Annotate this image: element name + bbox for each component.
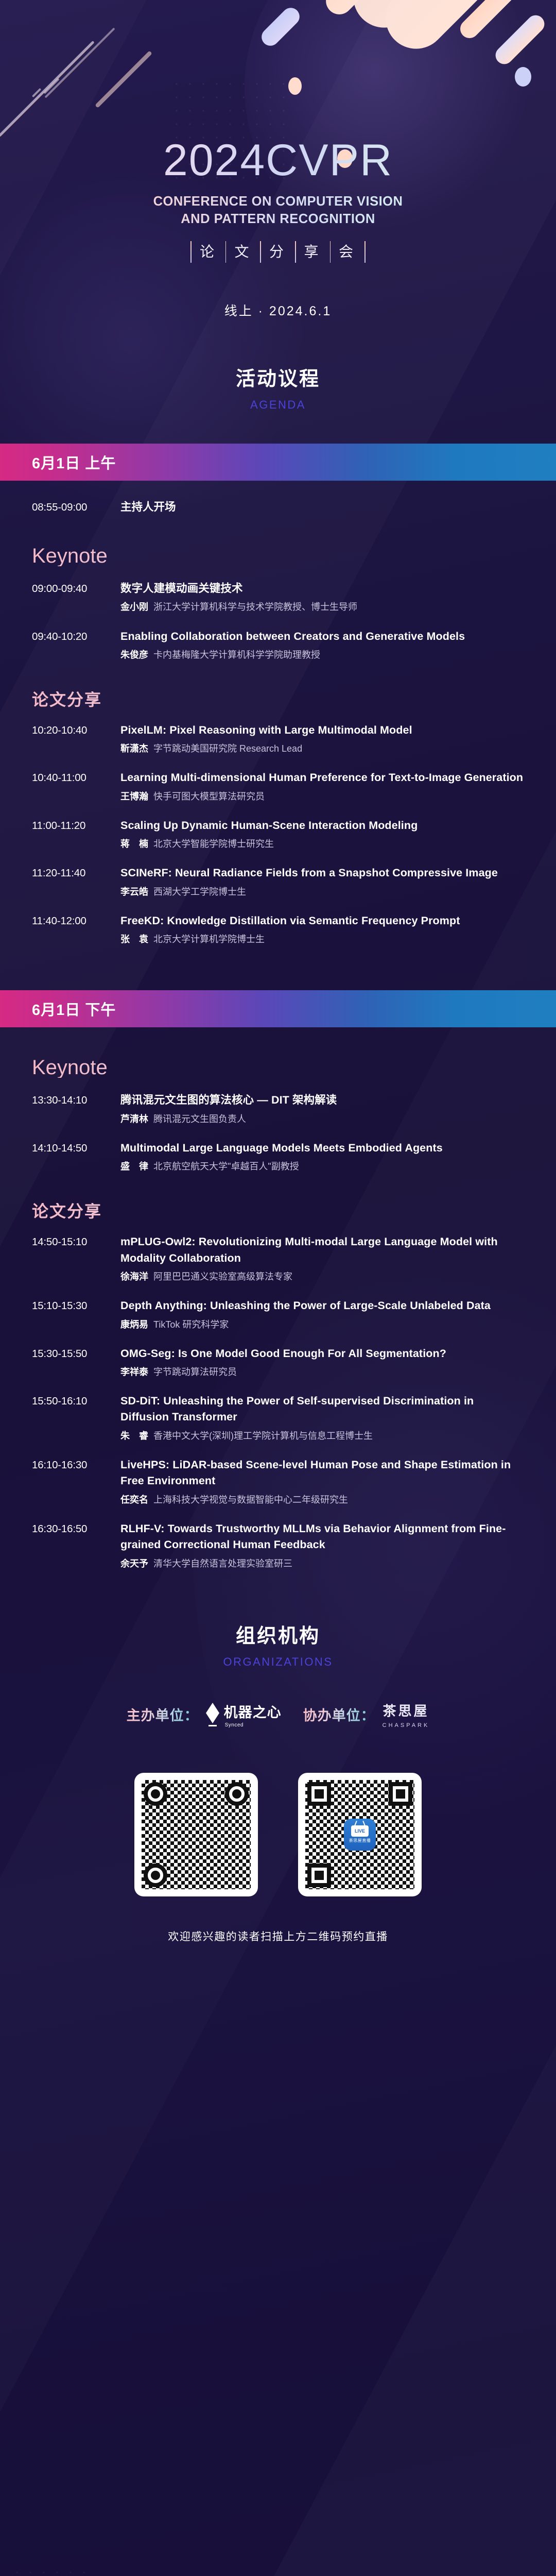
session-row[interactable]: 14:10-14:50 Multimodal Large Language Mo… bbox=[32, 1140, 524, 1173]
host-label: 主办单位： bbox=[127, 1704, 199, 1724]
qr-finder-icon bbox=[144, 1782, 167, 1806]
session-row[interactable]: 10:20-10:40 PixelLM: Pixel Reasoning wit… bbox=[32, 722, 524, 755]
session-speaker: 李云皓西湖大学工学院博士生 bbox=[120, 885, 524, 899]
session-time: 15:30-15:50 bbox=[32, 1346, 120, 1362]
speaker-name: 张 袁 bbox=[120, 934, 148, 944]
session-time: 10:20-10:40 bbox=[32, 722, 120, 739]
session-title: 主持人开场 bbox=[120, 498, 176, 514]
session-row[interactable]: 13:30-14:10 腾讯混元文生图的算法核心 — DIT 架构解读 芦清林腾… bbox=[32, 1092, 524, 1125]
venue-date: 线上 · 2024.6.1 bbox=[0, 301, 556, 319]
speaker-affiliation: 字节跳动算法研究员 bbox=[153, 1367, 237, 1377]
qr-finder-icon bbox=[389, 1782, 412, 1806]
agenda-morning: 08:55-09:00 主持人开场 Keynote 09:00-09:40 数字… bbox=[0, 498, 556, 946]
session-row[interactable]: 16:10-16:30 LiveHPS: LiDAR-based Scene-l… bbox=[32, 1457, 524, 1506]
chaspark-logo-cn: 茶思屋 bbox=[383, 1701, 429, 1720]
speaker-name: 靳潇杰 bbox=[120, 743, 148, 754]
session-row[interactable]: 11:00-11:20 Scaling Up Dynamic Human-Sce… bbox=[32, 818, 524, 851]
session-title: SD-DiT: Unleashing the Power of Self-sup… bbox=[120, 1393, 524, 1426]
day-banner-label: 6月1日 下午 bbox=[32, 998, 116, 1020]
chaspark-logo-en: CHASPARK bbox=[383, 1722, 430, 1728]
session-speaker: 王博瀚快手可图大模型算法研究员 bbox=[120, 790, 524, 803]
hourglass-icon bbox=[206, 1703, 219, 1726]
session-speaker: 余天予清华大学自然语言处理实验室研三 bbox=[120, 1557, 524, 1570]
session-time: 16:30-16:50 bbox=[32, 1521, 120, 1537]
session-title: OMG-Seg: Is One Model Good Enough For Al… bbox=[120, 1346, 524, 1362]
speaker-name: 王博瀚 bbox=[120, 791, 148, 802]
chaspark-logo: 茶思屋 CHASPARK bbox=[383, 1701, 430, 1728]
session-title: Multimodal Large Language Models Meets E… bbox=[120, 1140, 524, 1156]
agenda-title-en: AGENDA bbox=[0, 398, 556, 412]
session-time: 09:00-09:40 bbox=[32, 581, 120, 597]
session-row[interactable]: 11:40-12:00 FreeKD: Knowledge Distillati… bbox=[32, 913, 524, 946]
session-title: mPLUG-Owl2: Revolutionizing Multi-modal … bbox=[120, 1234, 524, 1266]
session-time: 10:40-11:00 bbox=[32, 770, 120, 786]
session-speaker: 蒋 楠北京大学智能学院博士研究生 bbox=[120, 837, 524, 851]
speaker-affiliation: 清华大学自然语言处理实验室研三 bbox=[153, 1558, 292, 1569]
session-row[interactable]: 16:30-16:50 RLHF-V: Towards Trustworthy … bbox=[32, 1521, 524, 1570]
synced-logo: 机器之心 Synced bbox=[206, 1701, 282, 1728]
session-row[interactable]: 09:40-10:20 Enabling Collaboration betwe… bbox=[32, 629, 524, 662]
speaker-name: 任奕名 bbox=[120, 1495, 148, 1505]
session-opening[interactable]: 08:55-09:00 主持人开场 bbox=[32, 498, 524, 516]
agenda-title-cn: 活动议程 bbox=[0, 363, 556, 391]
synced-logo-en: Synced bbox=[225, 1722, 282, 1728]
tv-icon: LIVE bbox=[351, 1825, 369, 1837]
agenda-afternoon: Keynote 13:30-14:10 腾讯混元文生图的算法核心 — DIT 架… bbox=[0, 1057, 556, 1570]
session-row[interactable]: 15:50-16:10 SD-DiT: Unleashing the Power… bbox=[32, 1393, 524, 1443]
session-speaker: 朱俊彦卡内基梅隆大学计算机科学学院助理教授 bbox=[120, 648, 524, 662]
speaker-affiliation: 上海科技大学视觉与数据智能中心二年级研究生 bbox=[153, 1495, 348, 1505]
host-block: 主办单位： 机器之心 Synced bbox=[127, 1701, 282, 1728]
session-speaker: 盛 律北京航空航天大学"卓越百人"副教授 bbox=[120, 1160, 524, 1173]
qr-code-wechat[interactable] bbox=[134, 1773, 258, 1896]
poster-content: 2024CVPR CONFERENCE ON COMPUTER VISION A… bbox=[0, 0, 556, 1944]
session-row[interactable]: 15:10-15:30 Depth Anything: Unleashing t… bbox=[32, 1298, 524, 1331]
speaker-affiliation: 字节跳动美国研究院 Research Lead bbox=[153, 743, 302, 754]
tagline-char-5: 会 bbox=[331, 245, 364, 259]
conference-subtitle-line1: CONFERENCE ON COMPUTER VISION bbox=[0, 193, 556, 210]
qr-note: 欢迎感兴趣的读者扫描上方二维码预约直播 bbox=[0, 1928, 556, 1944]
session-time: 11:40-12:00 bbox=[32, 913, 120, 929]
speaker-affiliation: 西湖大学工学院博士生 bbox=[153, 887, 246, 897]
synced-logo-cn: 机器之心 bbox=[224, 1701, 282, 1721]
organizations-title-en: ORGANIZATIONS bbox=[0, 1655, 556, 1669]
qr-code-row: LIVE 茶思屋直播 bbox=[0, 1773, 556, 1896]
organizations-section: 组织机构 ORGANIZATIONS 主办单位： 机器之心 Synced 协办单… bbox=[0, 1620, 556, 1944]
live-badge-icon: LIVE 茶思屋直播 bbox=[344, 1819, 376, 1851]
cohost-label: 协办单位： bbox=[303, 1704, 375, 1724]
session-time: 11:20-11:40 bbox=[32, 865, 120, 882]
masthead: 2024CVPR CONFERENCE ON COMPUTER VISION A… bbox=[0, 0, 556, 319]
speaker-affiliation: 卡内基梅隆大学计算机科学学院助理教授 bbox=[153, 650, 320, 660]
qr-finder-icon bbox=[144, 1863, 167, 1887]
speaker-affiliation: 快手可图大模型算法研究员 bbox=[153, 791, 265, 802]
organizations-title-cn: 组织机构 bbox=[0, 1620, 556, 1648]
qr-code-live[interactable]: LIVE 茶思屋直播 bbox=[298, 1773, 422, 1896]
session-title: Depth Anything: Unleashing the Power of … bbox=[120, 1298, 524, 1314]
session-row[interactable]: 15:30-15:50 OMG-Seg: Is One Model Good E… bbox=[32, 1346, 524, 1379]
page-title: 2024CVPR bbox=[0, 138, 556, 182]
session-title: FreeKD: Knowledge Distillation via Seman… bbox=[120, 913, 524, 929]
day-banner-morning: 6月1日 上午 bbox=[0, 444, 556, 481]
session-time: 11:00-11:20 bbox=[32, 818, 120, 834]
qr-finder-icon bbox=[225, 1782, 249, 1806]
qr-finder-icon bbox=[307, 1782, 331, 1806]
session-time: 08:55-09:00 bbox=[32, 499, 120, 516]
speaker-affiliation: 阿里巴巴通义实验室高级算法专家 bbox=[153, 1272, 292, 1282]
day-banner-afternoon: 6月1日 下午 bbox=[0, 990, 556, 1027]
session-speaker: 张 袁北京大学计算机学院博士生 bbox=[120, 933, 524, 946]
session-time: 13:30-14:10 bbox=[32, 1092, 120, 1109]
conference-subtitle-line2: AND PATTERN RECOGNITION bbox=[0, 210, 556, 228]
organizations-heading: 组织机构 ORGANIZATIONS bbox=[0, 1620, 556, 1669]
speaker-name: 蒋 楠 bbox=[120, 839, 148, 849]
session-time: 09:40-10:20 bbox=[32, 629, 120, 645]
session-title: Learning Multi-dimensional Human Prefere… bbox=[120, 770, 524, 786]
group-label-keynote-pm: Keynote bbox=[32, 1057, 524, 1078]
session-speaker: 徐海洋阿里巴巴通义实验室高级算法专家 bbox=[120, 1270, 524, 1283]
organizations-logos-row: 主办单位： 机器之心 Synced 协办单位： 茶思屋 CHASPARK bbox=[0, 1701, 556, 1728]
speaker-affiliation: 北京大学智能学院博士研究生 bbox=[153, 839, 274, 849]
session-time: 16:10-16:30 bbox=[32, 1457, 120, 1473]
speaker-name: 李云皓 bbox=[120, 887, 148, 897]
chinese-tagline: 论 文 分 享 会 bbox=[0, 241, 556, 263]
session-title: 腾讯混元文生图的算法核心 — DIT 架构解读 bbox=[120, 1092, 524, 1108]
qr-finder-icon bbox=[307, 1863, 331, 1887]
speaker-name: 徐海洋 bbox=[120, 1272, 148, 1282]
session-speaker: 芦清林腾讯混元文生图负责人 bbox=[120, 1112, 524, 1126]
speaker-affiliation: 北京航空航天大学"卓越百人"副教授 bbox=[153, 1161, 299, 1172]
session-title: SCINeRF: Neural Radiance Fields from a S… bbox=[120, 865, 524, 881]
session-time: 14:50-15:10 bbox=[32, 1234, 120, 1250]
session-row[interactable]: 09:00-09:40 数字人建模动画关键技术 金小刚浙江大学计算机科学与技术学… bbox=[32, 581, 524, 614]
session-speaker: 任奕名上海科技大学视觉与数据智能中心二年级研究生 bbox=[120, 1493, 524, 1506]
tagline-char-4: 享 bbox=[296, 245, 330, 259]
speaker-name: 朱 睿 bbox=[120, 1431, 148, 1441]
session-title: PixelLM: Pixel Reasoning with Large Mult… bbox=[120, 722, 524, 738]
group-label-papers-pm: 论文分享 bbox=[32, 1203, 524, 1219]
tagline-char-1: 论 bbox=[192, 245, 225, 259]
speaker-affiliation: TikTok 研究科学家 bbox=[153, 1319, 229, 1330]
session-time: 15:50-16:10 bbox=[32, 1393, 120, 1410]
session-time: 14:10-14:50 bbox=[32, 1140, 120, 1157]
group-label-keynote-am: Keynote bbox=[32, 546, 524, 566]
session-speaker: 李祥泰字节跳动算法研究员 bbox=[120, 1365, 524, 1379]
session-title: Scaling Up Dynamic Human-Scene Interacti… bbox=[120, 818, 524, 834]
dot-grid-bottom bbox=[10, 2566, 88, 2576]
session-speaker: 朱 睿香港中文大学(深圳)理工学院计算机与信息工程博士生 bbox=[120, 1429, 524, 1443]
speaker-name: 朱俊彦 bbox=[120, 650, 148, 660]
agenda-heading: 活动议程 AGENDA bbox=[0, 363, 556, 412]
speaker-affiliation: 浙江大学计算机科学与技术学院教授、博士生导师 bbox=[153, 602, 357, 612]
speaker-name: 金小刚 bbox=[120, 602, 148, 612]
session-row[interactable]: 10:40-11:00 Learning Multi-dimensional H… bbox=[32, 770, 524, 803]
session-title: RLHF-V: Towards Trustworthy MLLMs via Be… bbox=[120, 1521, 524, 1553]
session-time: 15:10-15:30 bbox=[32, 1298, 120, 1314]
tagline-char-2: 文 bbox=[226, 245, 260, 259]
speaker-name: 康炳易 bbox=[120, 1319, 148, 1330]
cohost-block: 协办单位： 茶思屋 CHASPARK bbox=[303, 1701, 430, 1728]
day-banner-label: 6月1日 上午 bbox=[32, 451, 116, 473]
session-row[interactable]: 14:50-15:10 mPLUG-Owl2: Revolutionizing … bbox=[32, 1234, 524, 1283]
speaker-name: 盛 律 bbox=[120, 1161, 148, 1172]
session-title: LiveHPS: LiDAR-based Scene-level Human P… bbox=[120, 1457, 524, 1489]
session-speaker: 靳潇杰字节跳动美国研究院 Research Lead bbox=[120, 742, 524, 755]
session-title: Enabling Collaboration between Creators … bbox=[120, 629, 524, 645]
speaker-affiliation: 香港中文大学(深圳)理工学院计算机与信息工程博士生 bbox=[153, 1431, 373, 1441]
speaker-name: 芦清林 bbox=[120, 1114, 148, 1124]
session-speaker: 康炳易TikTok 研究科学家 bbox=[120, 1318, 524, 1331]
separator-bar bbox=[364, 241, 366, 263]
tagline-char-3: 分 bbox=[261, 245, 295, 259]
session-row[interactable]: 11:20-11:40 SCINeRF: Neural Radiance Fie… bbox=[32, 865, 524, 898]
session-speaker: 金小刚浙江大学计算机科学与技术学院教授、博士生导师 bbox=[120, 600, 524, 614]
live-badge-label: 茶思屋直播 bbox=[349, 1838, 371, 1843]
session-title: 数字人建模动画关键技术 bbox=[120, 581, 524, 597]
speaker-affiliation: 腾讯混元文生图负责人 bbox=[153, 1114, 246, 1124]
group-label-papers-am: 论文分享 bbox=[32, 691, 524, 708]
speaker-affiliation: 北京大学计算机学院博士生 bbox=[153, 934, 265, 944]
speaker-name: 李祥泰 bbox=[120, 1367, 148, 1377]
speaker-name: 余天予 bbox=[120, 1558, 148, 1569]
